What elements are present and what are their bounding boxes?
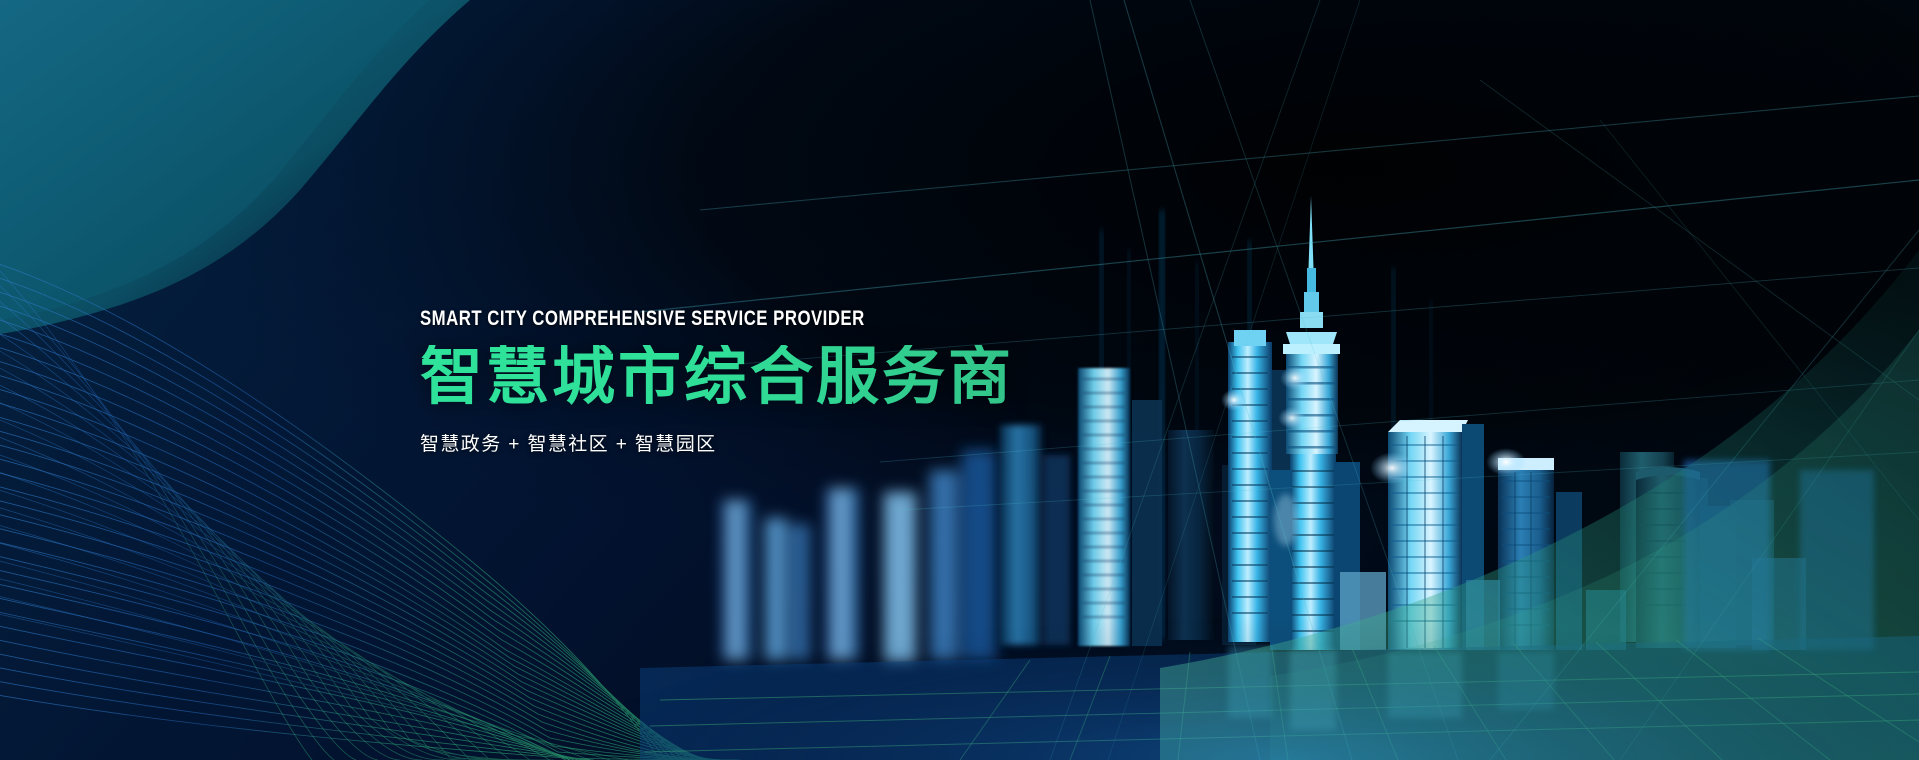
banner-subline-chinese: 智慧政务 + 智慧社区 + 智慧园区 bbox=[420, 429, 1180, 456]
hero-text-block: SMART CITY COMPREHENSIVE SERVICE PROVIDE… bbox=[420, 308, 1180, 456]
hero-banner: SMART CITY COMPREHENSIVE SERVICE PROVIDE… bbox=[0, 0, 1919, 760]
banner-headline-chinese: 智慧城市综合服务商 bbox=[420, 345, 1180, 409]
banner-eyebrow-english: SMART CITY COMPREHENSIVE SERVICE PROVIDE… bbox=[420, 308, 1028, 329]
